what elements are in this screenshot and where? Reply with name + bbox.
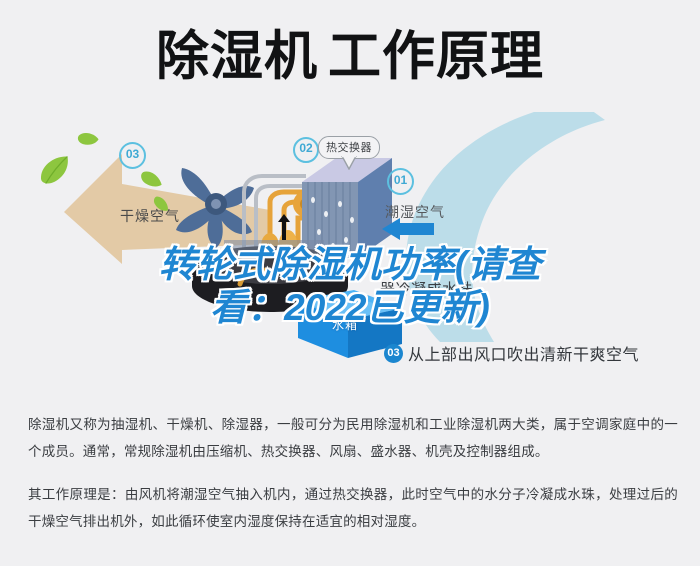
badge-02-heat-exchanger: 02 [293,137,319,163]
step-03-row: 03 从上部出风口吹出清新干爽空气 [384,341,639,365]
callout-pointer-icon [341,156,357,170]
body-paragraph-2: 其工作原理是：由风机将潮湿空气抽入机内，通过热交换器，此时空气中的水分子冷凝成水… [28,482,678,536]
badge-03-outlet: 03 [384,344,403,363]
badge-01-humid-air: 01 [387,168,414,195]
page-title-part2: 工作原理 [328,27,544,86]
overlay-title-line1: 转轮式除湿机功率(请查 [0,243,700,286]
overlay-title-line2: 看：2022已更新) [0,286,700,329]
overlay-watermark-title: 转轮式除湿机功率(请查 看：2022已更新) [0,243,700,329]
body-paragraph-1: 除湿机又称为抽湿机、干燥机、除湿器，一般可分为民用除湿机和工业除湿机两大类，属于… [28,412,678,466]
page-title: 除湿机工作原理 [0,26,700,88]
humid-air-label: 潮湿空气 [385,202,445,222]
page-root: 除湿机工作原理 [0,0,700,566]
badge-03-dry-air: 03 [119,142,146,169]
page-title-part1: 除湿机 [156,27,318,86]
step-03-description: 从上部出风口吹出清新干爽空气 [408,341,639,365]
dry-air-label: 干燥空气 [120,206,180,226]
article-body: 除湿机又称为抽湿机、干燥机、除湿器，一般可分为民用除湿机和工业除湿机两大类，属于… [28,412,678,552]
